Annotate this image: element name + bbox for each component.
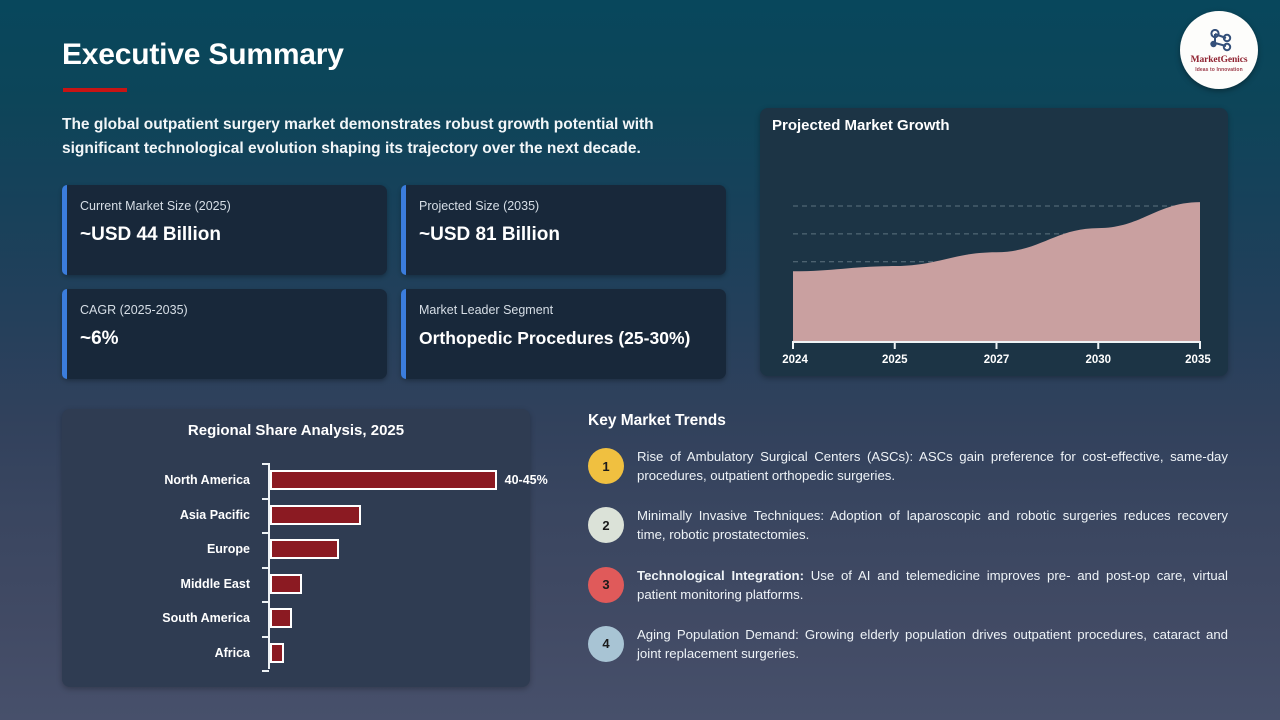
kpi-label: CAGR (2025-2035) — [80, 303, 371, 318]
bar-fill — [270, 539, 339, 559]
regional-share-bar-chart: North America40-45%Asia PacificEuropeMid… — [62, 461, 530, 676]
trends-title: Key Market Trends — [588, 412, 1228, 430]
brand-tagline: Ideas to Innovation — [1195, 68, 1242, 73]
growth-chart-title: Projected Market Growth — [772, 117, 950, 134]
x-axis-tick-label: 2035 — [1185, 354, 1211, 366]
brand-name: MarketGenics — [1191, 56, 1248, 66]
kpi-grid: Current Market Size (2025) ~USD 44 Billi… — [62, 185, 727, 393]
bar-fill — [270, 574, 302, 594]
trend-item: 4Aging Population Demand: Growing elderl… — [588, 624, 1228, 663]
page-title: Executive Summary — [62, 38, 344, 72]
bar-category-label: Africa — [215, 636, 250, 670]
bar-axis-tick — [262, 463, 269, 465]
trend-text: Aging Population Demand: Growing elderly… — [637, 624, 1228, 663]
kpi-label: Market Leader Segment — [419, 303, 710, 318]
bar-axis-tick — [262, 670, 269, 672]
kpi-label: Current Market Size (2025) — [80, 199, 371, 214]
bar-chart-row: North America40-45% — [62, 463, 530, 497]
bar-category-label: South America — [162, 601, 250, 635]
x-axis-tick-label: 2027 — [984, 354, 1010, 366]
kpi-label: Projected Size (2035) — [419, 199, 710, 214]
trend-number-badge: 1 — [588, 448, 624, 484]
projected-market-growth-panel: Projected Market Growth 2024202520272030… — [760, 108, 1228, 376]
trend-number-badge: 3 — [588, 567, 624, 603]
kpi-card-market-leader-segment: Market Leader Segment Orthopedic Procedu… — [401, 289, 726, 379]
trend-text: Technological Integration: Use of AI and… — [637, 565, 1228, 604]
trend-item: 1Rise of Ambulatory Surgical Centers (AS… — [588, 446, 1228, 485]
trend-text: Rise of Ambulatory Surgical Centers (ASC… — [637, 446, 1228, 485]
kpi-value: ~USD 44 Billion — [80, 224, 371, 246]
key-market-trends-section: Key Market Trends 1Rise of Ambulatory Su… — [588, 412, 1228, 683]
trend-lead: Minimally Invasive Techniques: — [637, 508, 824, 523]
bar-category-label: Europe — [207, 532, 250, 566]
regional-chart-title: Regional Share Analysis, 2025 — [62, 422, 530, 439]
trend-number-badge: 2 — [588, 507, 624, 543]
bar-chart-row: Asia Pacific — [62, 498, 530, 532]
molecule-network-icon — [1204, 29, 1234, 53]
kpi-value: ~USD 81 Billion — [419, 224, 710, 246]
kpi-card-current-market-size: Current Market Size (2025) ~USD 44 Billi… — [62, 185, 387, 275]
trend-lead: Rise of Ambulatory Surgical Centers (ASC… — [637, 449, 913, 464]
kpi-value: ~6% — [80, 328, 371, 350]
kpi-row-bottom: CAGR (2025-2035) ~6% Market Leader Segme… — [62, 289, 727, 379]
bar-axis-tick — [262, 498, 269, 500]
bar-category-label: Middle East — [181, 567, 250, 601]
growth-chart-x-axis-labels: 20242025202720302035 — [760, 354, 1228, 370]
regional-share-panel: Regional Share Analysis, 2025 North Amer… — [62, 409, 530, 687]
brand-logo-badge: MarketGenics Ideas to Innovation — [1180, 11, 1258, 89]
x-axis-tick-label: 2024 — [782, 354, 808, 366]
bar-axis-tick — [262, 601, 269, 603]
kpi-value: Orthopedic Procedures (25-30%) — [419, 328, 710, 348]
kpi-row-top: Current Market Size (2025) ~USD 44 Billi… — [62, 185, 727, 275]
kpi-card-projected-size: Projected Size (2035) ~USD 81 Billion — [401, 185, 726, 275]
x-axis-tick-label: 2025 — [882, 354, 908, 366]
bar-category-label: North America — [164, 463, 250, 497]
bar-chart-row: South America — [62, 601, 530, 635]
bar-category-label: Asia Pacific — [180, 498, 250, 532]
trend-text: Minimally Invasive Techniques: Adoption … — [637, 505, 1228, 544]
trend-lead: Aging Population Demand: — [637, 627, 799, 642]
bar-chart-row: Africa — [62, 636, 530, 670]
trend-lead: Technological Integration: — [637, 568, 804, 583]
bar-fill — [270, 643, 284, 663]
trend-number-badge: 4 — [588, 626, 624, 662]
title-underline-accent — [63, 88, 127, 92]
projected-market-growth-chart — [760, 136, 1228, 376]
bar-fill — [270, 608, 292, 628]
trend-item: 2Minimally Invasive Techniques: Adoption… — [588, 505, 1228, 544]
bar-axis-tick — [262, 532, 269, 534]
bar-fill — [270, 470, 497, 490]
page-subtitle: The global outpatient surgery market dem… — [62, 113, 722, 160]
trend-item: 3Technological Integration: Use of AI an… — [588, 565, 1228, 604]
slide: Executive Summary The global outpatient … — [0, 0, 1280, 720]
x-axis-tick-label: 2030 — [1085, 354, 1111, 366]
bar-axis-tick — [262, 567, 269, 569]
trend-list: 1Rise of Ambulatory Surgical Centers (AS… — [588, 446, 1228, 663]
bar-fill — [270, 505, 361, 525]
bar-value-label: 40-45% — [505, 463, 548, 497]
bar-chart-row: Europe — [62, 532, 530, 566]
kpi-card-cagr: CAGR (2025-2035) ~6% — [62, 289, 387, 379]
bar-axis-tick — [262, 636, 269, 638]
bar-chart-row: Middle East — [62, 567, 530, 601]
